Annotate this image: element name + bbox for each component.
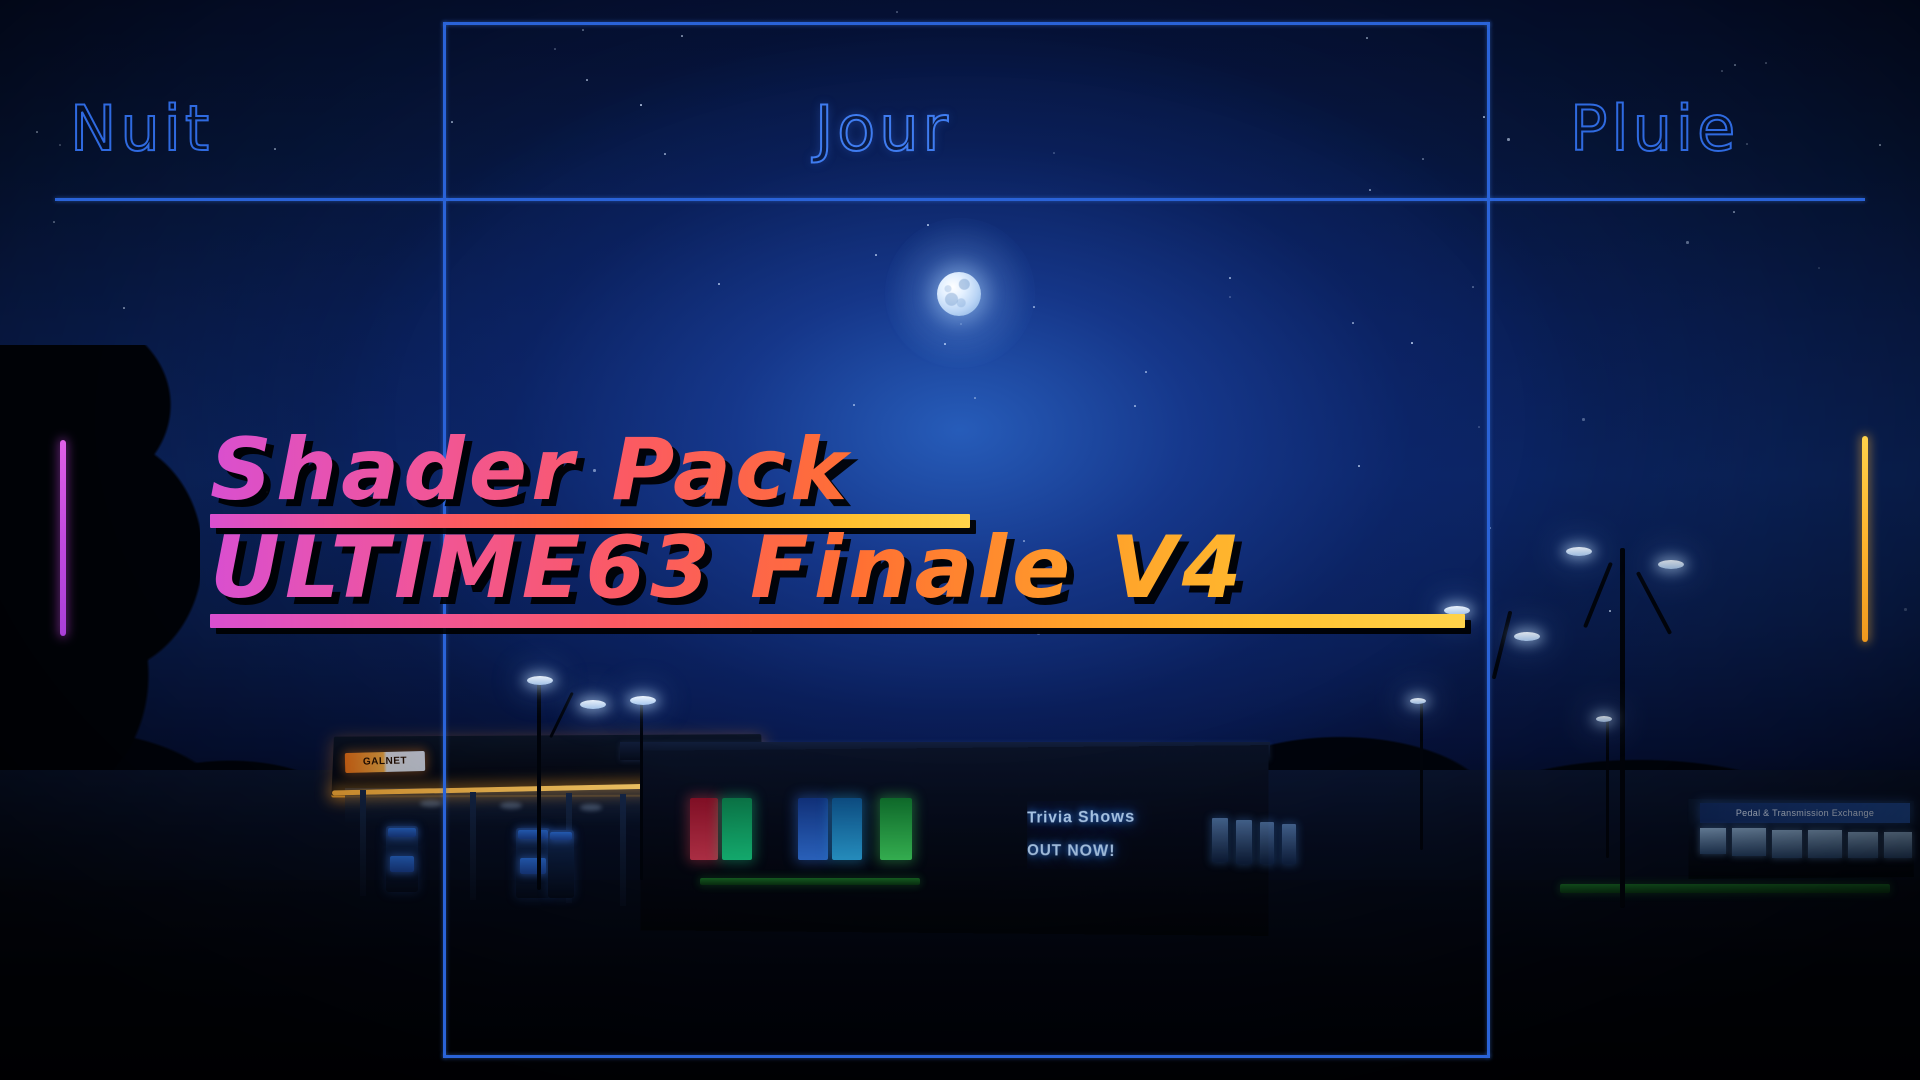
canopy-pillar [360,790,366,896]
star-dot [1352,322,1354,324]
star-dot [1229,277,1231,279]
moon-icon [937,272,981,316]
fuel-pump-display [518,830,548,839]
street-lamp-pole [1620,548,1625,908]
accent-bar-right [1862,436,1868,642]
star-dot [750,630,752,632]
window-poster [722,798,752,860]
foreground-tree-silhouette [0,345,200,775]
street-lamp-head [1596,716,1612,722]
star-dot [36,131,38,133]
star-dot [1746,143,1748,145]
star-dot [1229,296,1231,298]
street-lamp-pole [640,700,643,880]
star-dot [664,153,666,155]
star-dot [1734,64,1736,66]
weather-option-nuit[interactable]: Nuit [70,92,213,165]
star-dot [718,283,720,285]
street-lamp-head [527,676,553,685]
fuel-pump [548,830,574,898]
far-store-sign: Pedal & Transmission Exchange [1700,803,1910,823]
store-neon-line-1: Trivia Shows [1027,798,1200,834]
street-lamp-head [580,700,606,709]
star-dot [896,11,898,13]
canopy-downlight [580,804,602,811]
far-store-window [1732,828,1766,856]
weather-option-pluie[interactable]: Pluie [1570,92,1739,165]
canopy-pillar [470,792,476,900]
window-poster [798,798,828,860]
star-dot [640,104,642,106]
far-store-window [1848,832,1878,858]
star-dot [586,79,588,81]
far-store-window [1772,830,1802,858]
star-dot [123,307,125,309]
street-lamp-head [1566,547,1592,556]
star-dot [53,221,55,223]
star-dot [1369,189,1371,191]
star-dot [274,148,276,150]
title-block: Shader Pack ULTIME63 Finale V4 [210,420,1510,628]
star-dot [1134,405,1136,407]
star-dot [1411,342,1413,344]
far-store-window [1700,828,1726,854]
window-poster [832,798,862,860]
canopy-downlight [500,802,522,809]
grass-verge [1560,884,1890,893]
title-line-secondary: ULTIME63 Finale V4 [210,518,1510,618]
title-line-primary: Shader Pack [210,420,1510,520]
street-lamp-head [1514,632,1540,641]
far-store-window [1884,832,1912,858]
store-window [1282,824,1296,864]
star-dot [1507,138,1510,141]
street-lamp-pole [537,680,541,890]
grass-verge [700,878,920,885]
street-lamp-pole [1606,718,1609,858]
star-dot [681,35,683,37]
star-dot [1818,267,1820,269]
star-dot [1366,37,1368,39]
star-dot [1037,632,1040,635]
frame-line-horizontal-inner-top [443,22,1490,25]
fuel-pump-display [388,828,416,837]
star-dot [1721,70,1723,72]
star-dot [974,397,976,399]
star-dot [1879,144,1881,146]
street-lamp-head [630,696,656,705]
canopy-pillar [620,794,626,906]
window-poster [690,798,718,860]
far-store-window [1808,830,1842,858]
star-dot [875,254,877,256]
store-window [1236,820,1252,864]
star-dot [1422,158,1424,160]
star-dot [451,121,453,123]
street-lamp-pole [1420,700,1423,850]
accent-bar-left [60,440,66,636]
store-window [1260,822,1274,864]
frame-line-horizontal-bottom [443,1055,1490,1058]
title-rule-lower [210,614,1465,628]
star-dot [1472,286,1474,288]
street-lamp-head [1410,698,1426,704]
star-dot [582,29,584,31]
store-window [1212,818,1228,862]
station-brand-sign: GALNET [345,751,425,773]
fuel-pump-keypad [520,858,546,874]
shader-pack-preview-screen: GALNET Trivia Shows OUT NOW! [0,0,1920,1080]
star-dot [1765,62,1767,64]
star-dot [1483,116,1485,118]
star-dot [1609,610,1611,612]
fuel-pump-keypad [390,856,414,872]
star-dot [554,48,556,50]
store-neon-line-2: OUT NOW! [1027,834,1200,870]
star-dot [1145,371,1147,373]
weather-option-jour[interactable]: Jour [815,92,952,165]
store-neon-sign: Trivia Shows OUT NOW! [1027,798,1200,871]
star-dot [1053,152,1055,154]
star-dot [59,144,61,146]
star-dot [1582,418,1585,421]
frame-line-horizontal-top [55,198,1865,201]
fuel-pump-display [550,832,572,840]
star-dot [853,404,855,406]
star-dot [1904,608,1907,611]
street-lamp-head [1658,560,1684,569]
canopy-downlight [420,800,442,807]
star-dot [1733,211,1735,213]
window-poster [880,798,912,860]
star-dot [1686,241,1689,244]
